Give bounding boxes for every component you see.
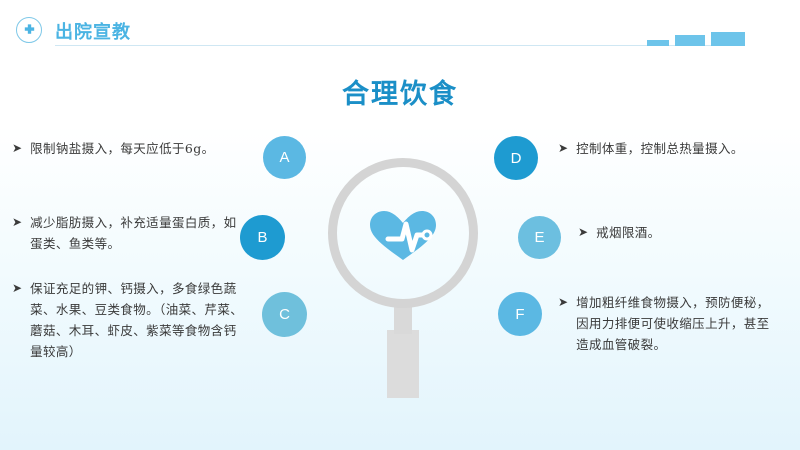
decoration-bar-1: [647, 40, 669, 46]
badge-letter-f[interactable]: F: [498, 292, 542, 336]
decoration-bar-2: [675, 35, 705, 46]
list-item-text: 增加粗纤维食物摄入，预防便秘，因用力排便可使收缩压上升，甚至造成血管破裂。: [576, 292, 776, 355]
magnifier-handle-neck: [394, 304, 412, 334]
magnifier-heart-pulse-icon: [328, 158, 478, 398]
list-item: ➤ 减少脂肪摄入，补充适量蛋白质，如蛋类、鱼类等。: [12, 212, 245, 254]
bullet-arrow-icon: ➤: [12, 278, 22, 298]
magnifier-handle-grip: [387, 330, 419, 398]
badge-label: A: [279, 149, 289, 166]
header-divider: [55, 45, 745, 46]
badge-label: B: [257, 229, 267, 246]
badge-letter-a[interactable]: A: [263, 136, 306, 179]
bullet-arrow-icon: ➤: [12, 138, 22, 158]
badge-label: D: [511, 150, 522, 167]
badge-letter-d[interactable]: D: [494, 136, 538, 180]
list-item-text: 保证充足的钾、钙摄入，多食绿色蔬菜、水果、豆类食物。（油菜、芹菜、蘑菇、木耳、虾…: [30, 278, 245, 362]
list-item-text: 减少脂肪摄入，补充适量蛋白质，如蛋类、鱼类等。: [30, 212, 245, 254]
medical-cross-circle-icon: [16, 17, 42, 43]
page-title: 出院宣教: [55, 18, 131, 44]
badge-letter-c[interactable]: C: [262, 292, 307, 337]
bullet-arrow-icon: ➤: [12, 212, 22, 232]
list-item-text: 控制体重，控制总热量摄入。: [576, 138, 776, 159]
slide-header: 出院宣教: [0, 0, 800, 58]
header-decoration-bars: [647, 30, 745, 46]
list-item: ➤ 戒烟限酒。: [578, 222, 796, 243]
decoration-bar-3: [711, 32, 745, 46]
list-item-text: 限制钠盐摄入，每天应低于6g。: [30, 138, 245, 159]
badge-label: C: [279, 306, 290, 323]
badge-letter-e[interactable]: E: [518, 216, 561, 259]
badge-label: F: [515, 306, 524, 323]
badge-letter-b[interactable]: B: [240, 215, 285, 260]
list-item: ➤ 保证充足的钾、钙摄入，多食绿色蔬菜、水果、豆类食物。（油菜、芹菜、蘑菇、木耳…: [12, 278, 245, 362]
bullet-arrow-icon: ➤: [558, 138, 568, 158]
heart-pulse-icon: [366, 208, 440, 264]
list-item-text: 戒烟限酒。: [596, 222, 796, 243]
bullet-arrow-icon: ➤: [558, 292, 568, 312]
slide-title: 合理饮食: [0, 72, 800, 111]
list-item: ➤ 限制钠盐摄入，每天应低于6g。: [12, 138, 245, 159]
list-item: ➤ 控制体重，控制总热量摄入。: [558, 138, 776, 159]
badge-label: E: [534, 229, 544, 246]
bullet-arrow-icon: ➤: [578, 222, 588, 242]
list-item: ➤ 增加粗纤维食物摄入，预防便秘，因用力排便可使收缩压上升，甚至造成血管破裂。: [558, 292, 776, 355]
